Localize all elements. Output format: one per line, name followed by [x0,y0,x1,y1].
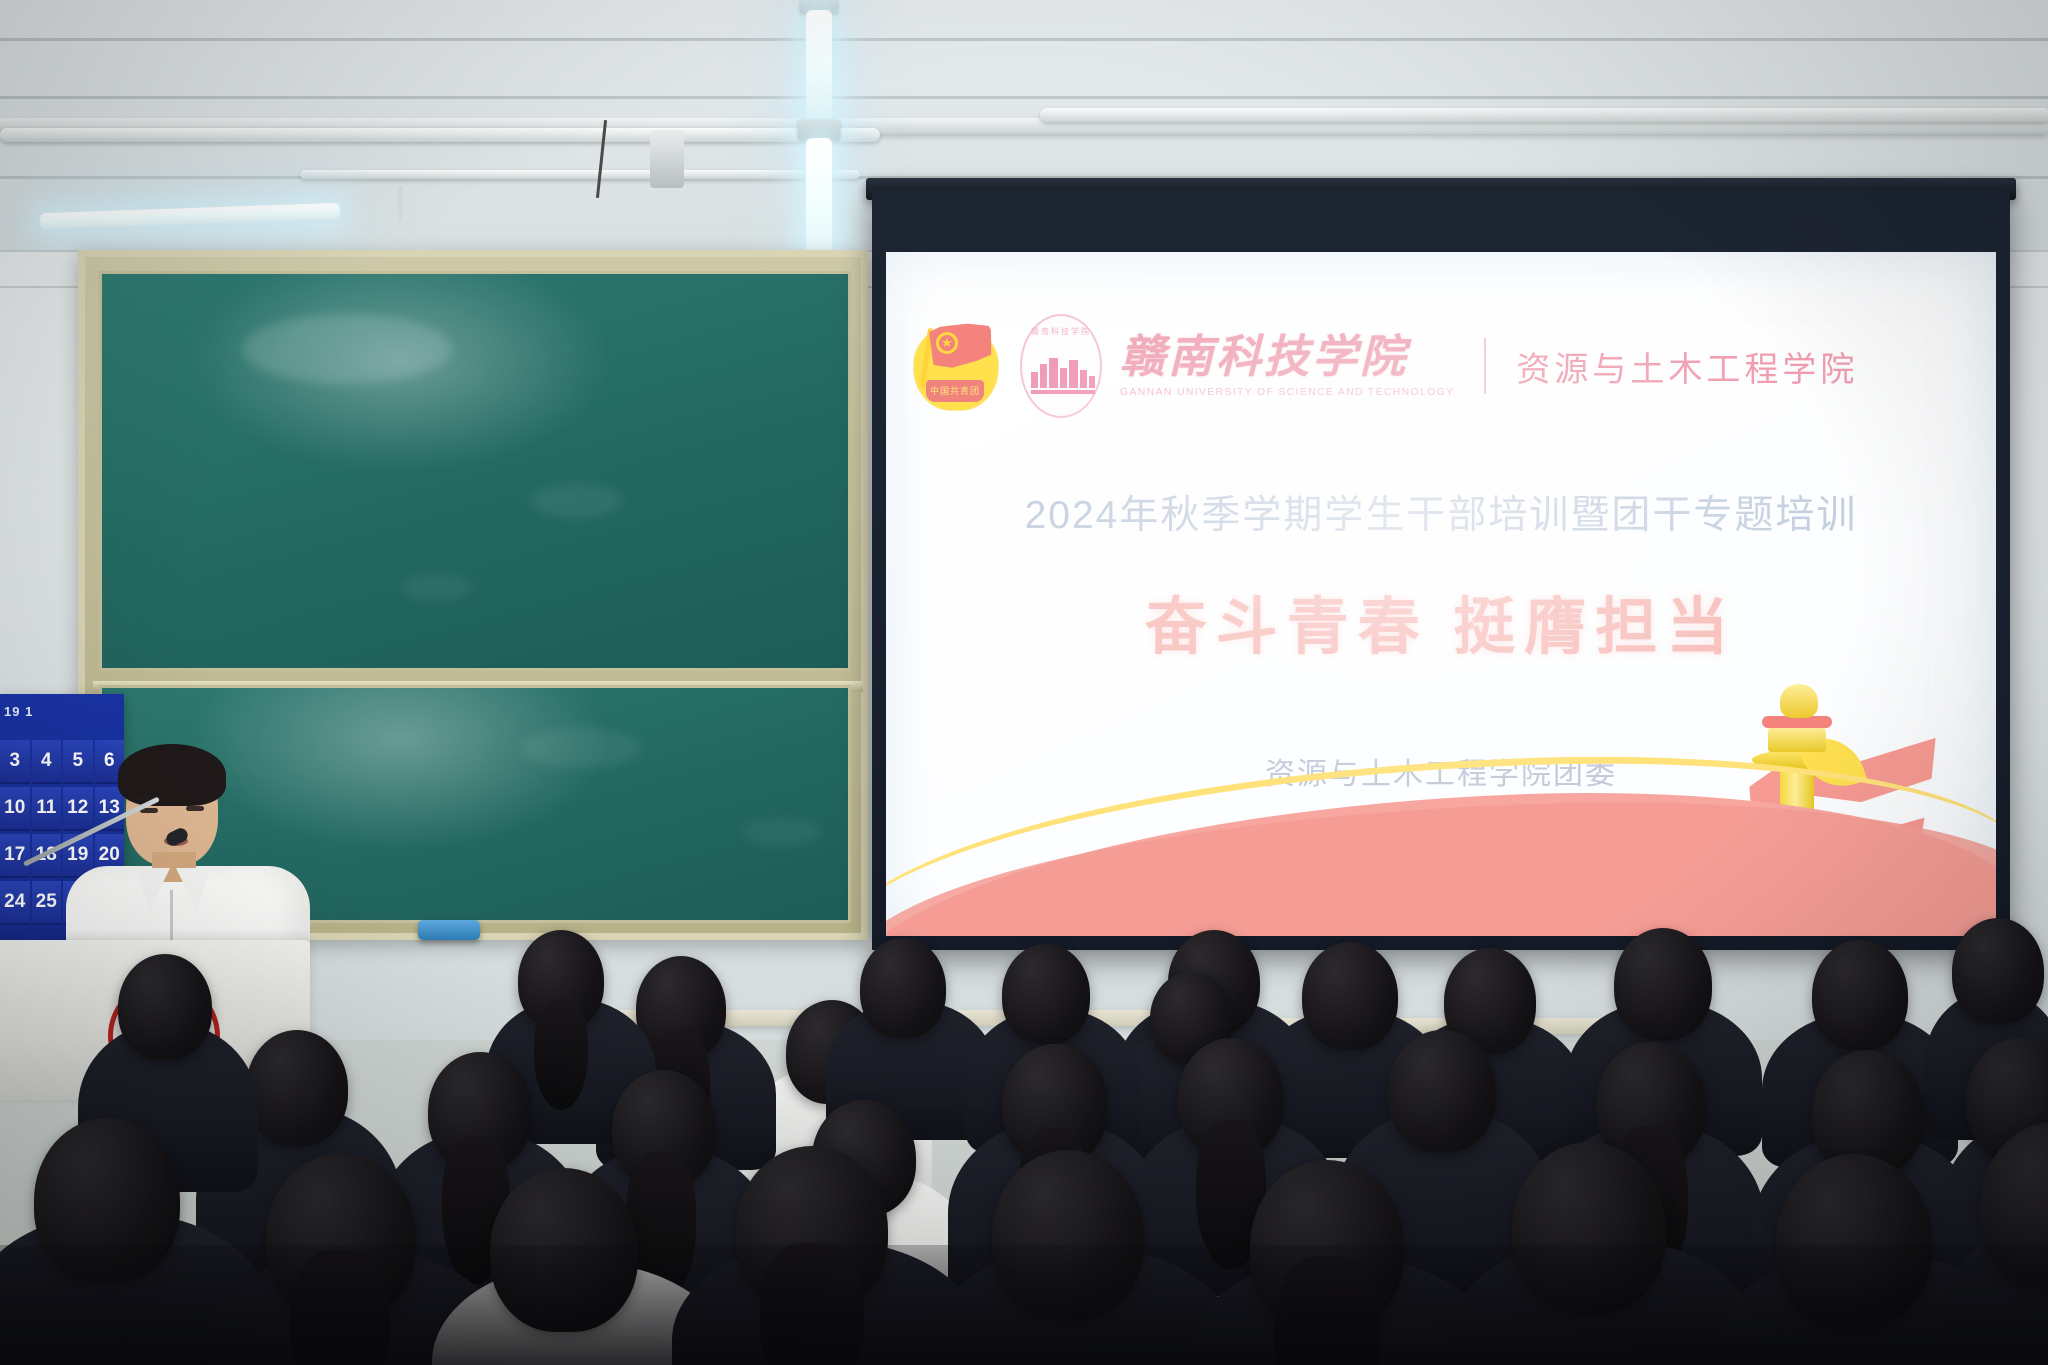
audience-ponytail [534,1000,588,1110]
slide-subtitle: 2024年秋季学期学生干部培训暨团干专题培训 [886,484,1996,540]
ceiling-speaker-bracket [650,130,684,188]
pocket-slot[interactable]: 24 [0,881,30,925]
audience-member [1302,942,1398,1050]
ceiling-duct [0,128,880,142]
slide-logo-row: 中国共青团 赣南科技学院 赣南科技学 [908,314,1858,418]
pocket-organizer-header: 19 1 [4,704,33,719]
audience-member [1812,940,1908,1050]
pocket-slot[interactable]: 3 [0,740,30,784]
speaker-hair [118,744,226,806]
university-seal-icon: 赣南科技学院 [1020,314,1102,418]
pocket-slot[interactable]: 10 [0,787,30,831]
pocket-slot[interactable]: 17 [0,834,30,878]
classroom-scene: 中国共青团 赣南科技学院 赣南科技学 [0,0,2048,1365]
college-name: 资源与土木工程学院 [1516,342,1858,391]
audience-member [246,1030,348,1146]
audience-member [1952,918,2044,1024]
communist-youth-league-emblem-icon: 中国共青团 [908,318,1004,414]
league-emblem-band-text: 中国共青团 [926,380,984,402]
ceiling-conduit [300,170,860,179]
presentation-slide: 中国共青团 赣南科技学院 赣南科技学 [886,252,1996,936]
university-name-en: GANNAN UNIVERSITY OF SCIENCE AND TECHNOL… [1120,386,1454,398]
slide-main-title: 奋斗青春 挺膺担当 [886,576,1996,666]
audience-member [1614,928,1712,1040]
foreground-shadow [0,1245,2048,1365]
projector-screen: 中国共青团 赣南科技学院 赣南科技学 [872,190,2010,950]
blackboard-eraser[interactable] [418,920,480,940]
logo-divider [1484,338,1486,394]
seal-skyline [1031,354,1095,388]
pocket-slot[interactable]: 25 [32,881,62,925]
audience-member [860,938,946,1038]
audience-member [1388,1030,1496,1152]
pocket-slot[interactable]: 4 [32,740,62,784]
audience-member [118,954,212,1060]
seal-arc-text: 赣南科技学院 [1022,326,1100,337]
university-wordmark: 赣南科技学院 GANNAN UNIVERSITY OF SCIENCE AND … [1120,334,1454,398]
audience-member [1002,944,1090,1044]
chalkboard-upper-panel [99,271,851,671]
university-name-cn: 赣南科技学院 [1120,334,1454,381]
pocket-slot[interactable]: 11 [32,787,62,831]
ceiling-duct-right [1040,108,2048,122]
